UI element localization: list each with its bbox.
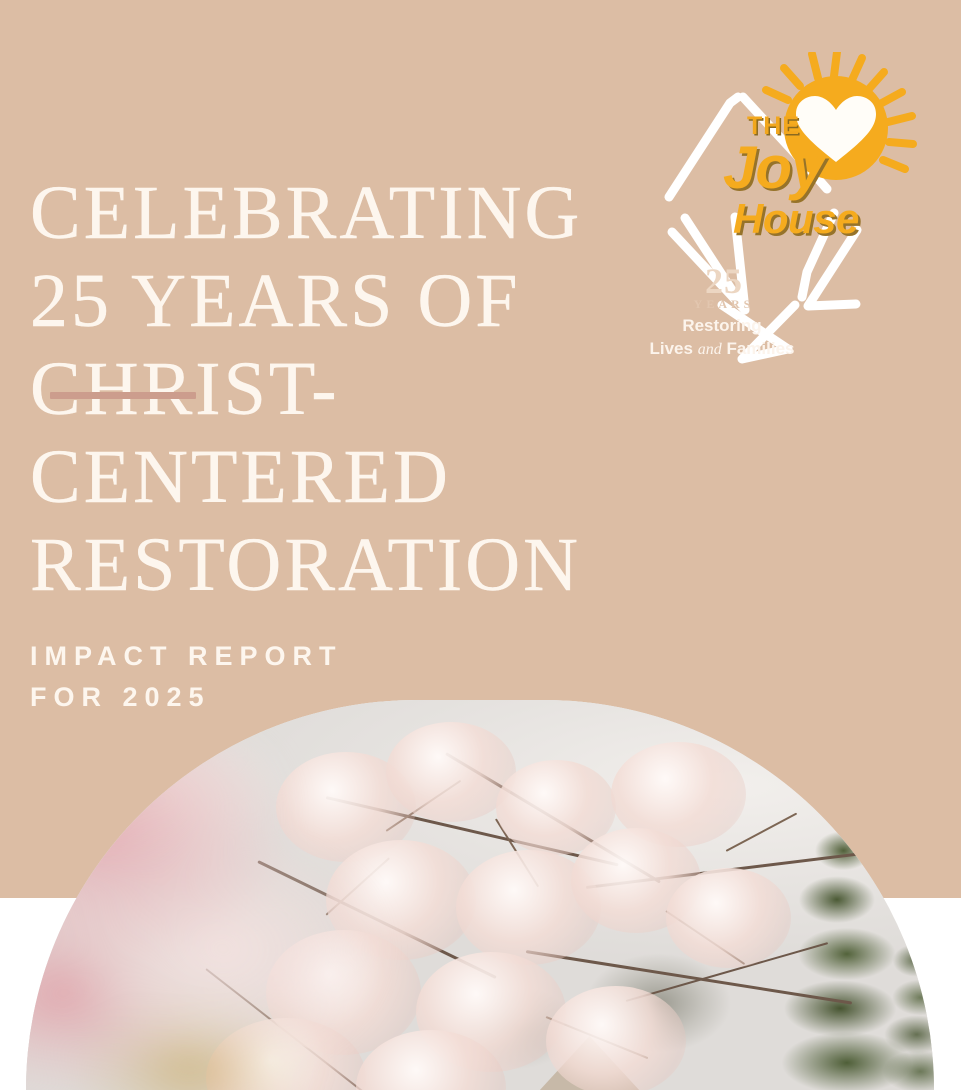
headline-line-2: 25 YEARS OF (30, 257, 670, 345)
house-arrow-right (808, 230, 857, 306)
report-subtitle: IMPACT REPORT FOR 2025 (30, 636, 343, 718)
headline-line-3: CHRIST- (30, 345, 670, 433)
foreground-blurred-blossoms (26, 730, 396, 1090)
headline-accent-underline (50, 392, 196, 399)
logo-house-and-sun-icon (612, 52, 952, 372)
subtitle-line-1: IMPACT REPORT (30, 636, 343, 677)
headline-line-4: CENTERED (30, 433, 670, 521)
cover-photo-arch (26, 700, 934, 1090)
headline-line-1: CELEBRATING (30, 169, 670, 257)
headline-line-5: RESTORATION (30, 521, 670, 609)
subtitle-line-2: FOR 2025 (30, 677, 343, 718)
page-title: CELEBRATING 25 YEARS OF CHRIST- CENTERED… (30, 169, 670, 609)
house-arrow-left (672, 217, 745, 310)
joy-house-logo: THE Joy House 25 YEARS Restoring Lives a… (612, 52, 952, 372)
blossom-cluster (666, 868, 791, 968)
conifer-tree-far-right (871, 905, 934, 1090)
blossom-cluster (546, 986, 686, 1090)
house-base-zigzag (722, 305, 795, 359)
house-roof-left (669, 97, 738, 197)
impact-report-cover: CELEBRATING 25 YEARS OF CHRIST- CENTERED… (0, 0, 961, 1090)
